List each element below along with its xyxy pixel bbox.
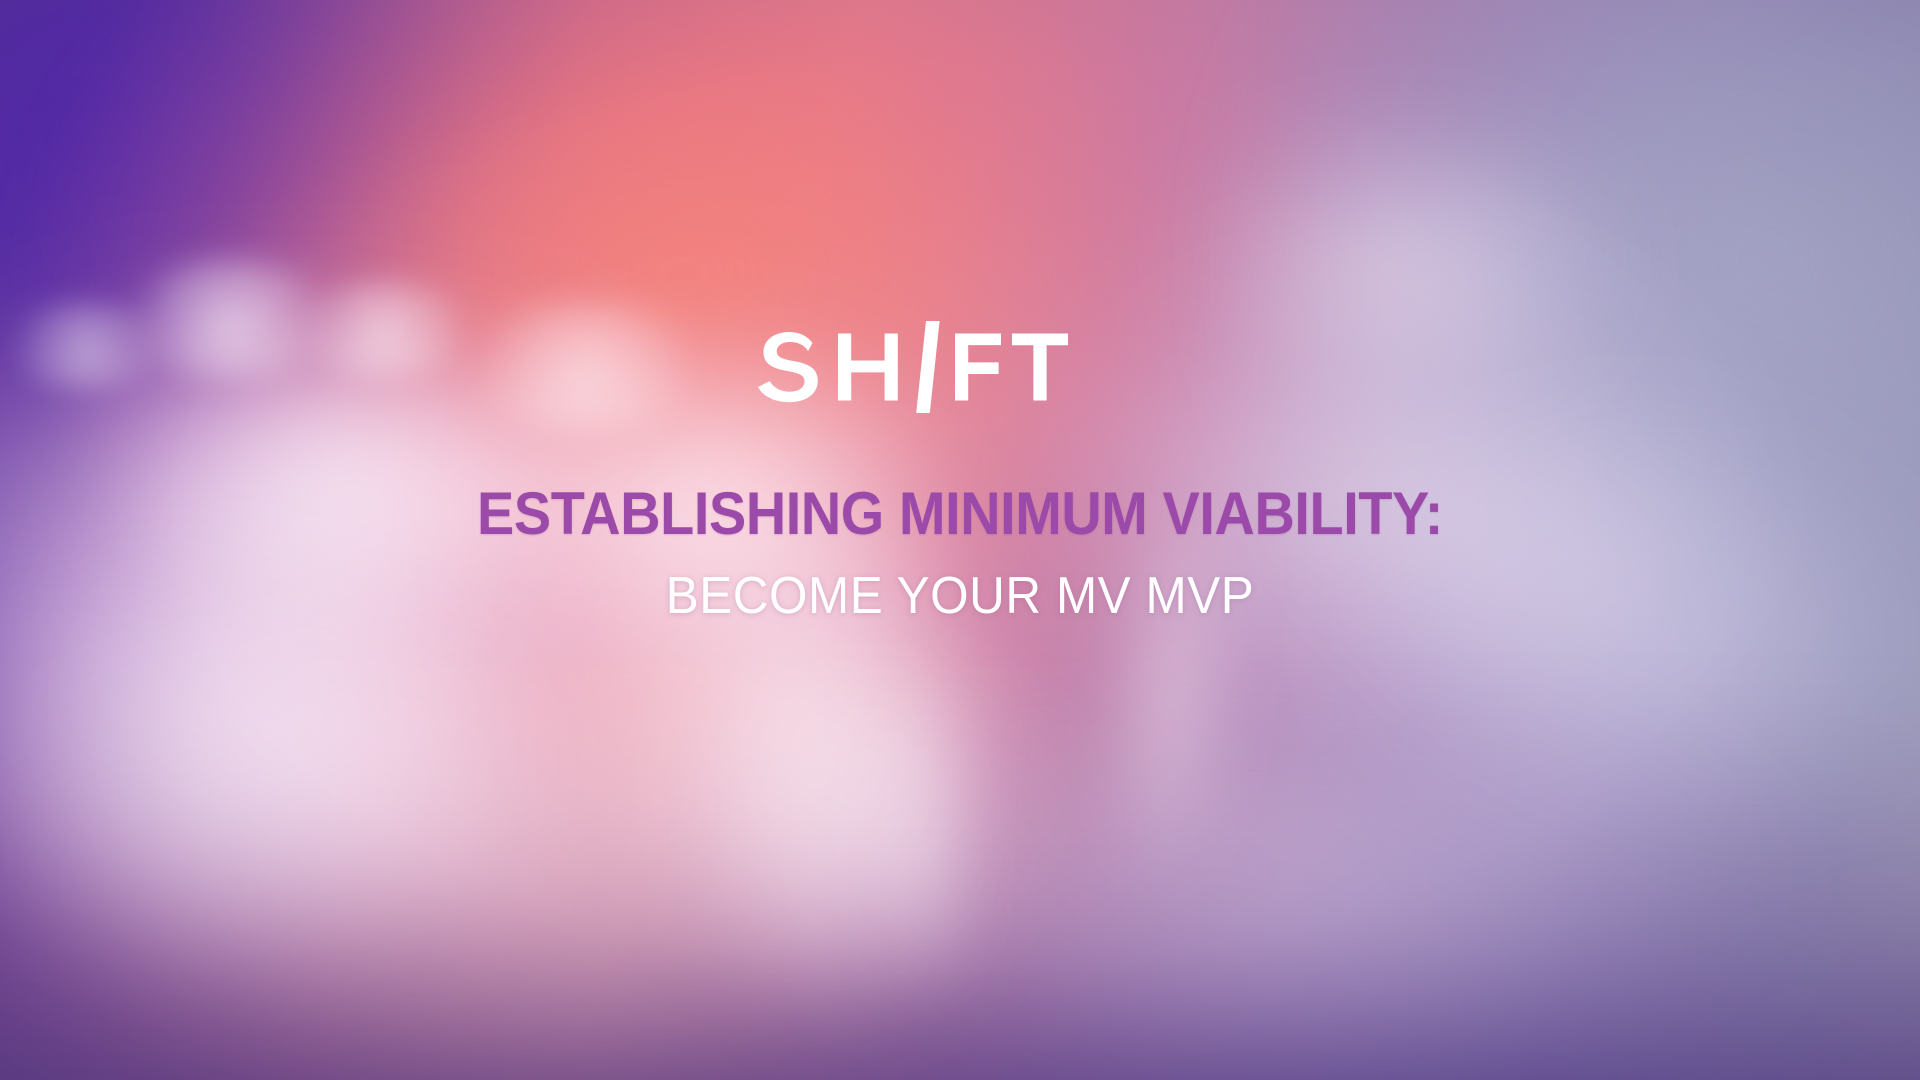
title-card-stage: SHIFT ESTABLISHING MINIMUM VIABILITY: BE… [0, 0, 1920, 1080]
cloud-billow-d [0, 302, 173, 388]
cloud-layer [0, 0, 1920, 1080]
cloud-billow-c [461, 302, 711, 432]
cloud-billow-b [288, 281, 480, 378]
